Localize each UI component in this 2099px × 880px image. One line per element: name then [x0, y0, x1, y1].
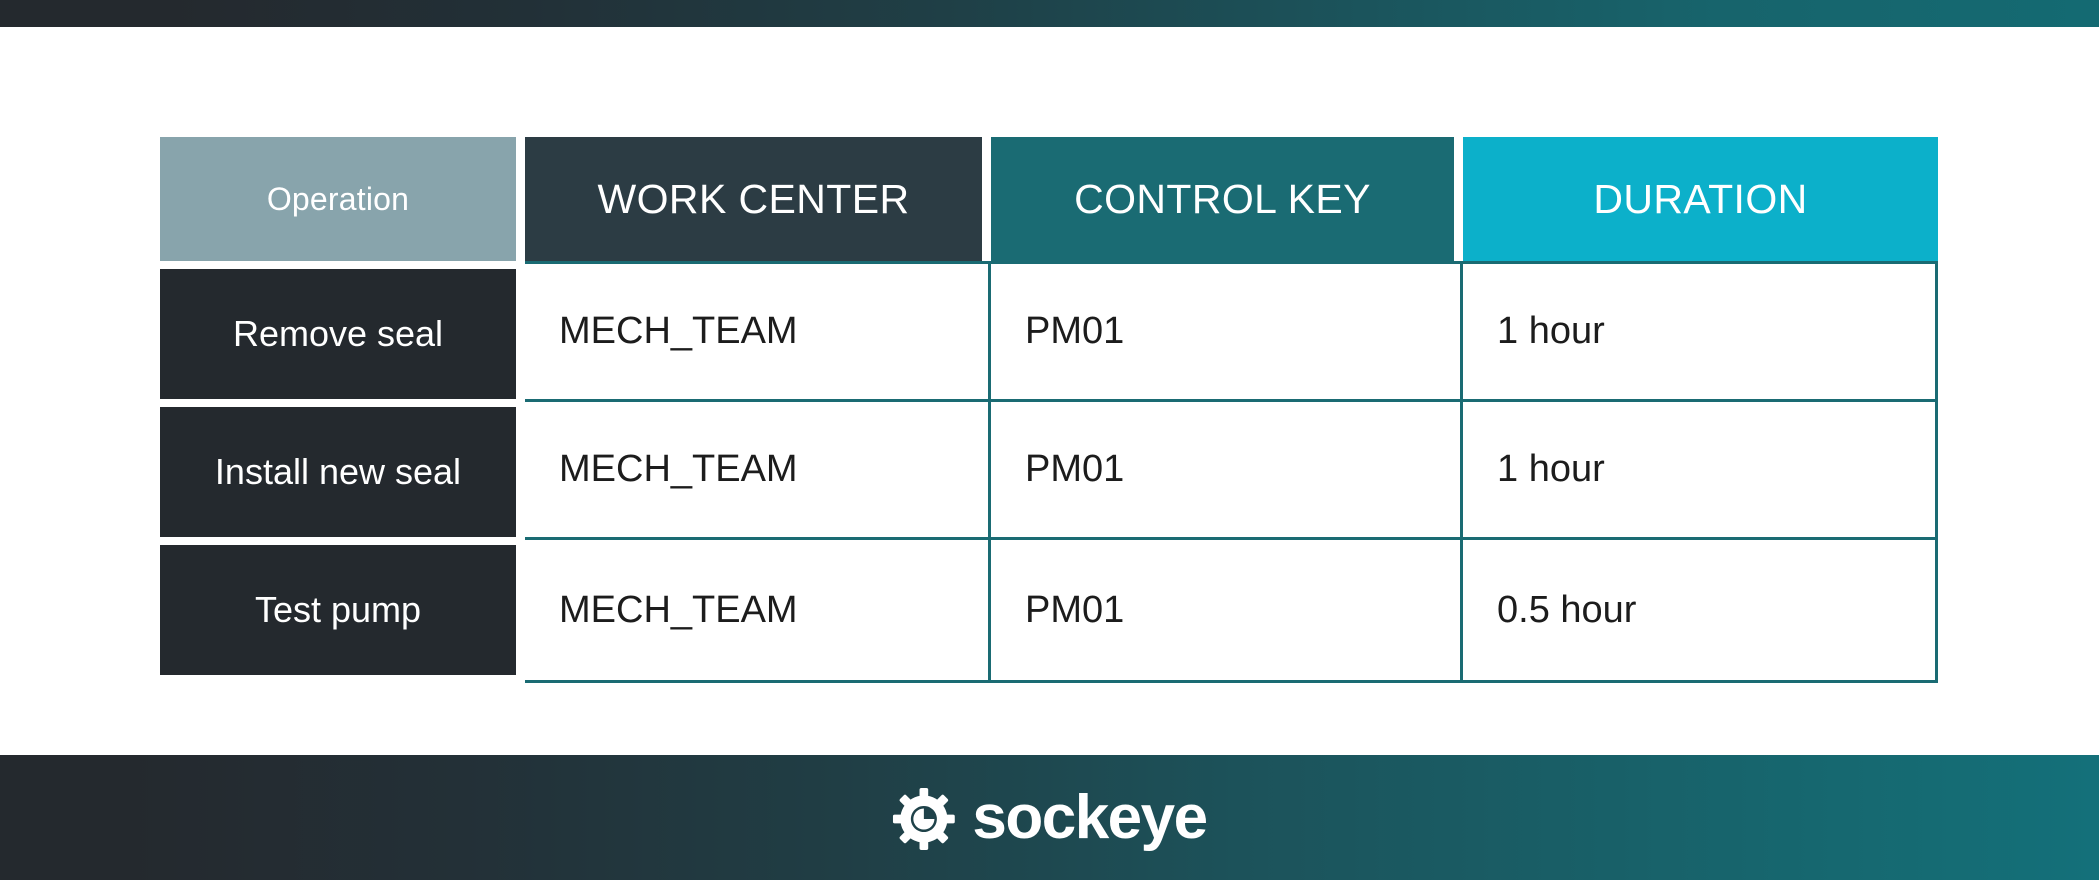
column-header-control-key: CONTROL KEY — [991, 137, 1463, 261]
cell-work-center: MECH_TEAM — [525, 399, 991, 537]
cell-work-center: MECH_TEAM — [525, 261, 991, 399]
table-row: Test pump MECH_TEAM PM01 0.5 hour — [160, 537, 1938, 683]
cell-duration: 1 hour — [1463, 261, 1938, 399]
table-body: Remove seal MECH_TEAM PM01 1 hour Instal… — [160, 261, 1938, 683]
column-header-duration: DURATION — [1463, 137, 1938, 261]
cell-work-center: MECH_TEAM — [525, 537, 991, 683]
cell-operation: Test pump — [160, 537, 525, 683]
operations-table: Operation WORK CENTER CONTROL KEY DURATI… — [160, 137, 1938, 683]
sockeye-logo: sockeye — [892, 755, 1206, 880]
cell-operation: Remove seal — [160, 261, 525, 399]
table-row: Install new seal MECH_TEAM PM01 1 hour — [160, 399, 1938, 537]
top-gradient-bar — [0, 0, 2099, 27]
column-header-operation: Operation — [160, 137, 525, 261]
cell-control-key: PM01 — [991, 261, 1463, 399]
table-header: Operation WORK CENTER CONTROL KEY DURATI… — [160, 137, 1938, 261]
cell-operation: Install new seal — [160, 399, 525, 537]
cell-duration: 0.5 hour — [1463, 537, 1938, 683]
column-header-work-center: WORK CENTER — [525, 137, 991, 261]
sockeye-wordmark: sockeye — [972, 787, 1206, 849]
gear-clock-icon — [892, 786, 954, 850]
slide-root: Operation WORK CENTER CONTROL KEY DURATI… — [0, 0, 2099, 880]
table-header-row: Operation WORK CENTER CONTROL KEY DURATI… — [160, 137, 1938, 261]
cell-duration: 1 hour — [1463, 399, 1938, 537]
operations-table-container: Operation WORK CENTER CONTROL KEY DURATI… — [160, 137, 1938, 683]
cell-control-key: PM01 — [991, 399, 1463, 537]
cell-control-key: PM01 — [991, 537, 1463, 683]
table-row: Remove seal MECH_TEAM PM01 1 hour — [160, 261, 1938, 399]
